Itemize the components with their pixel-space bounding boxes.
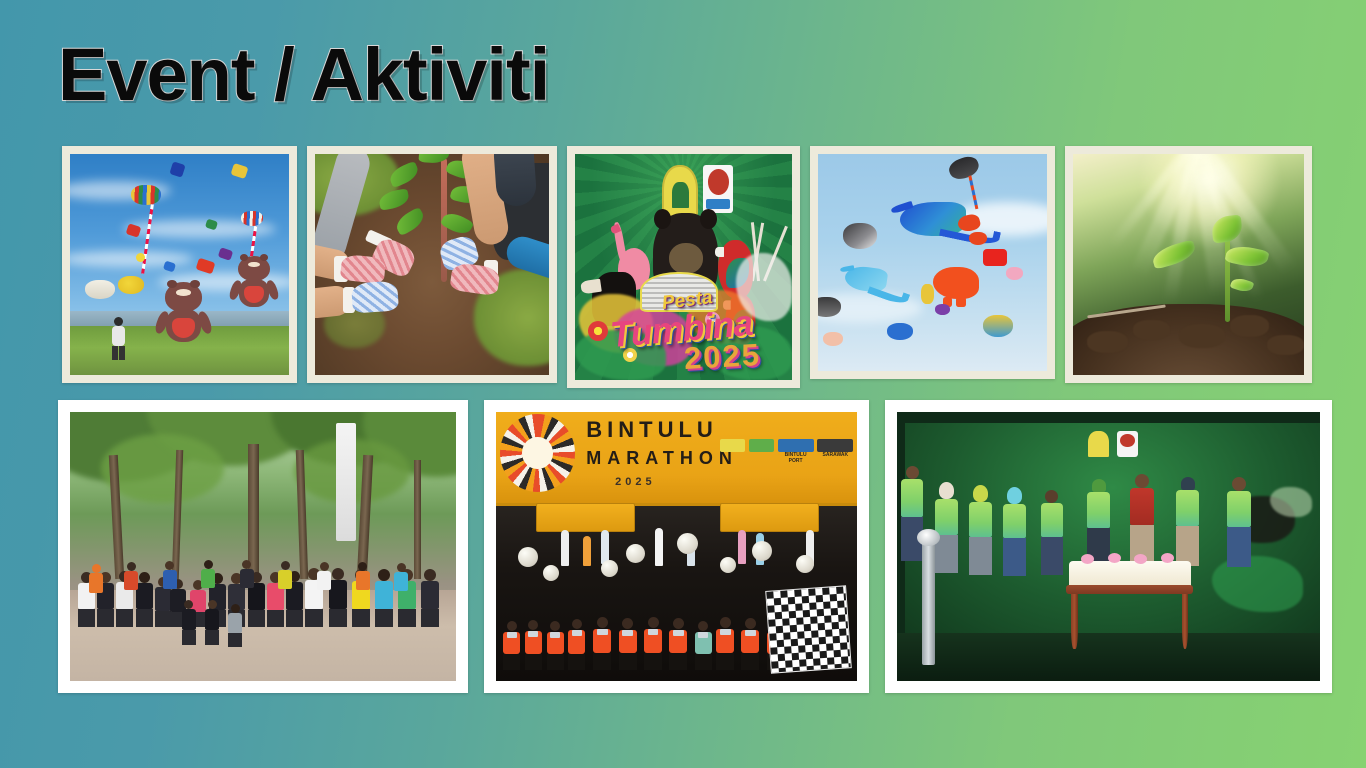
photo-cake-cutting-ceremony	[897, 412, 1320, 681]
sponsor-emblem-council	[749, 439, 774, 452]
gallery-row-bottom: BINTULU MARATHON 2025 BINTULU PORT	[58, 400, 1332, 693]
photo-community-group-photo-park	[70, 412, 456, 681]
photo-tree-planting-hands	[315, 154, 549, 375]
poster-pesta-tumbina-2025: Pesta Tumbina 2025	[575, 154, 792, 380]
marathon-sunburst-logo	[500, 414, 576, 493]
page-title: Event / Aktiviti	[58, 38, 549, 112]
backdrop-logo-secondary	[1117, 431, 1138, 457]
sponsor-emblem-state	[720, 439, 745, 452]
photo-tile-cake-cutting-ceremony[interactable]	[885, 400, 1332, 693]
marathon-start-arch: BINTULU MARATHON 2025 BINTULU PORT	[496, 412, 857, 506]
photo-seedling-sunlight	[1073, 154, 1304, 375]
ceremonial-cake-table	[1066, 557, 1193, 648]
photo-tile-seedling-sunlight[interactable]	[1065, 146, 1312, 383]
photo-tile-tree-planting-hands[interactable]	[307, 146, 557, 383]
backdrop-logo-primary	[1088, 431, 1109, 457]
photo-tile-community-group-photo[interactable]	[58, 400, 468, 693]
photo-kite-festival-chipmunk	[70, 154, 289, 375]
photo-tile-bintulu-marathon[interactable]: BINTULU MARATHON 2025 BINTULU PORT	[484, 400, 869, 693]
photo-bintulu-marathon-2025: BINTULU MARATHON 2025 BINTULU PORT	[496, 412, 857, 681]
photo-tile-pesta-tumbina-poster[interactable]: Pesta Tumbina 2025	[567, 146, 800, 388]
photo-tile-kite-festival-seahorse[interactable]	[810, 146, 1055, 379]
marathon-subtitle: MARATHON	[586, 449, 738, 467]
photo-kite-festival-seahorse	[818, 154, 1047, 371]
gallery-row-top: Pesta Tumbina 2025	[62, 146, 1312, 388]
stanchion-post	[922, 541, 935, 665]
poster-logo-secondary	[703, 165, 733, 212]
sponsor-bintulu-port: BINTULU PORT	[778, 439, 814, 464]
sponsor-sarawak: SARAWAK	[817, 439, 853, 458]
poster-year: 2025	[683, 337, 762, 377]
photo-tile-kite-festival-chipmunk[interactable]	[62, 146, 297, 383]
marathon-year: 2025	[615, 476, 655, 488]
marathon-title: BINTULU	[586, 419, 718, 441]
checkered-flag	[766, 585, 853, 673]
poster-logo-primary	[662, 165, 699, 216]
